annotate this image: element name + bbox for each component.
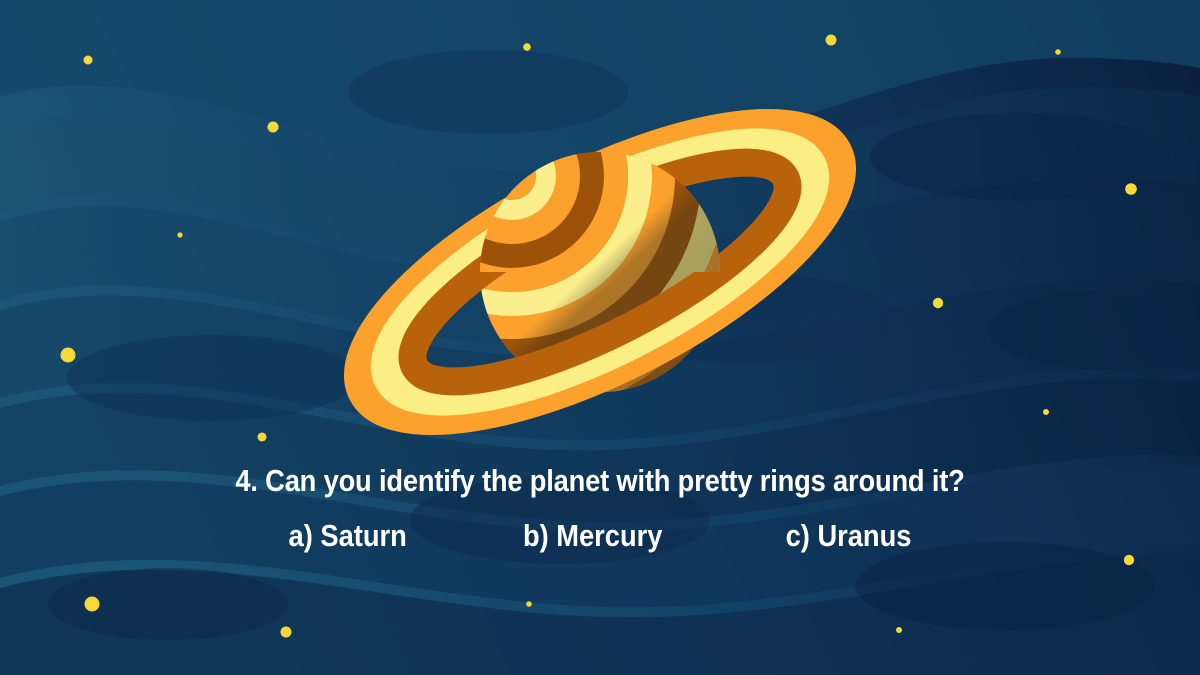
saturn-illustration — [0, 0, 1200, 675]
quiz-slide: 4. Can you identify the planet with pret… — [0, 0, 1200, 675]
saturn-planet-body — [87, 0, 937, 601]
